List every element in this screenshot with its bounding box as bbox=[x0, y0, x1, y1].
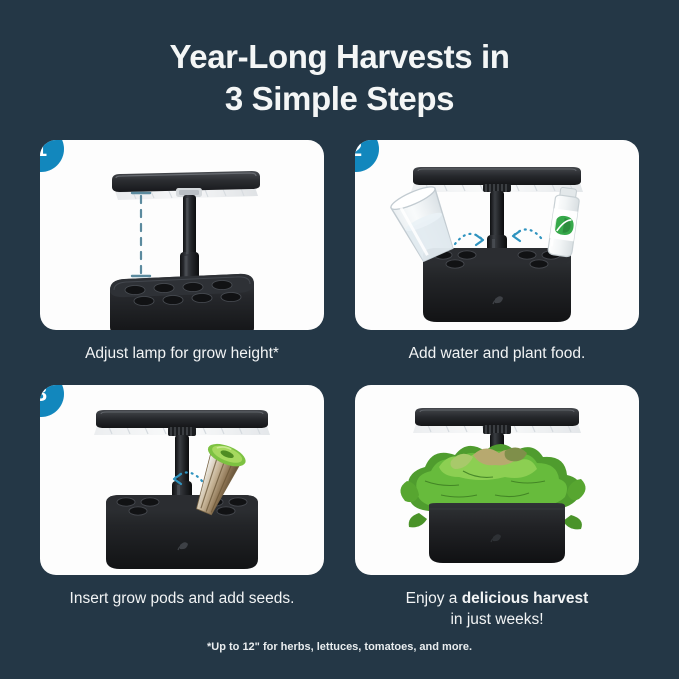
step-card-3: 3 bbox=[40, 385, 324, 610]
step-4-illustration-card bbox=[355, 385, 639, 575]
step-2-illustration-card: 2 bbox=[355, 140, 639, 330]
step-card-4: Enjoy a delicious harvest in just weeks! bbox=[355, 385, 639, 631]
garden-add-water-and-plant-food-graphic bbox=[355, 140, 639, 330]
step-4-caption-line2: in just weeks! bbox=[450, 611, 543, 628]
step-4-caption-bold: delicious harvest bbox=[462, 590, 589, 607]
footnote: *Up to 12" for herbs, lettuces, tomatoes… bbox=[0, 641, 679, 653]
garden-insert-grow-pod-graphic bbox=[40, 385, 324, 575]
step-2-caption: Add water and plant food. bbox=[355, 344, 639, 365]
title-line-2: 3 Simple Steps bbox=[0, 78, 679, 120]
garden-lamp-height-adjust-graphic bbox=[40, 140, 324, 330]
step-3-illustration-card: 3 bbox=[40, 385, 324, 575]
title-line-1: Year-Long Harvests in bbox=[0, 36, 679, 78]
step-card-1: 1 bbox=[40, 140, 324, 365]
step-4-caption-prefix: Enjoy a bbox=[406, 590, 462, 607]
step-card-2: 2 bbox=[355, 140, 639, 365]
page-title: Year-Long Harvests in 3 Simple Steps bbox=[0, 36, 679, 120]
step-1-caption: Adjust lamp for grow height* bbox=[40, 344, 324, 365]
step-3-caption: Insert grow pods and add seeds. bbox=[40, 589, 324, 610]
plant-food-bottle-icon bbox=[547, 187, 580, 258]
height-dimension-line bbox=[132, 193, 150, 276]
infographic-page: Year-Long Harvests in 3 Simple Steps 1 bbox=[0, 0, 679, 679]
step-1-illustration-card: 1 bbox=[40, 140, 324, 330]
step-4-caption: Enjoy a delicious harvest in just weeks! bbox=[355, 589, 639, 631]
garden-full-harvest-graphic bbox=[355, 385, 639, 575]
